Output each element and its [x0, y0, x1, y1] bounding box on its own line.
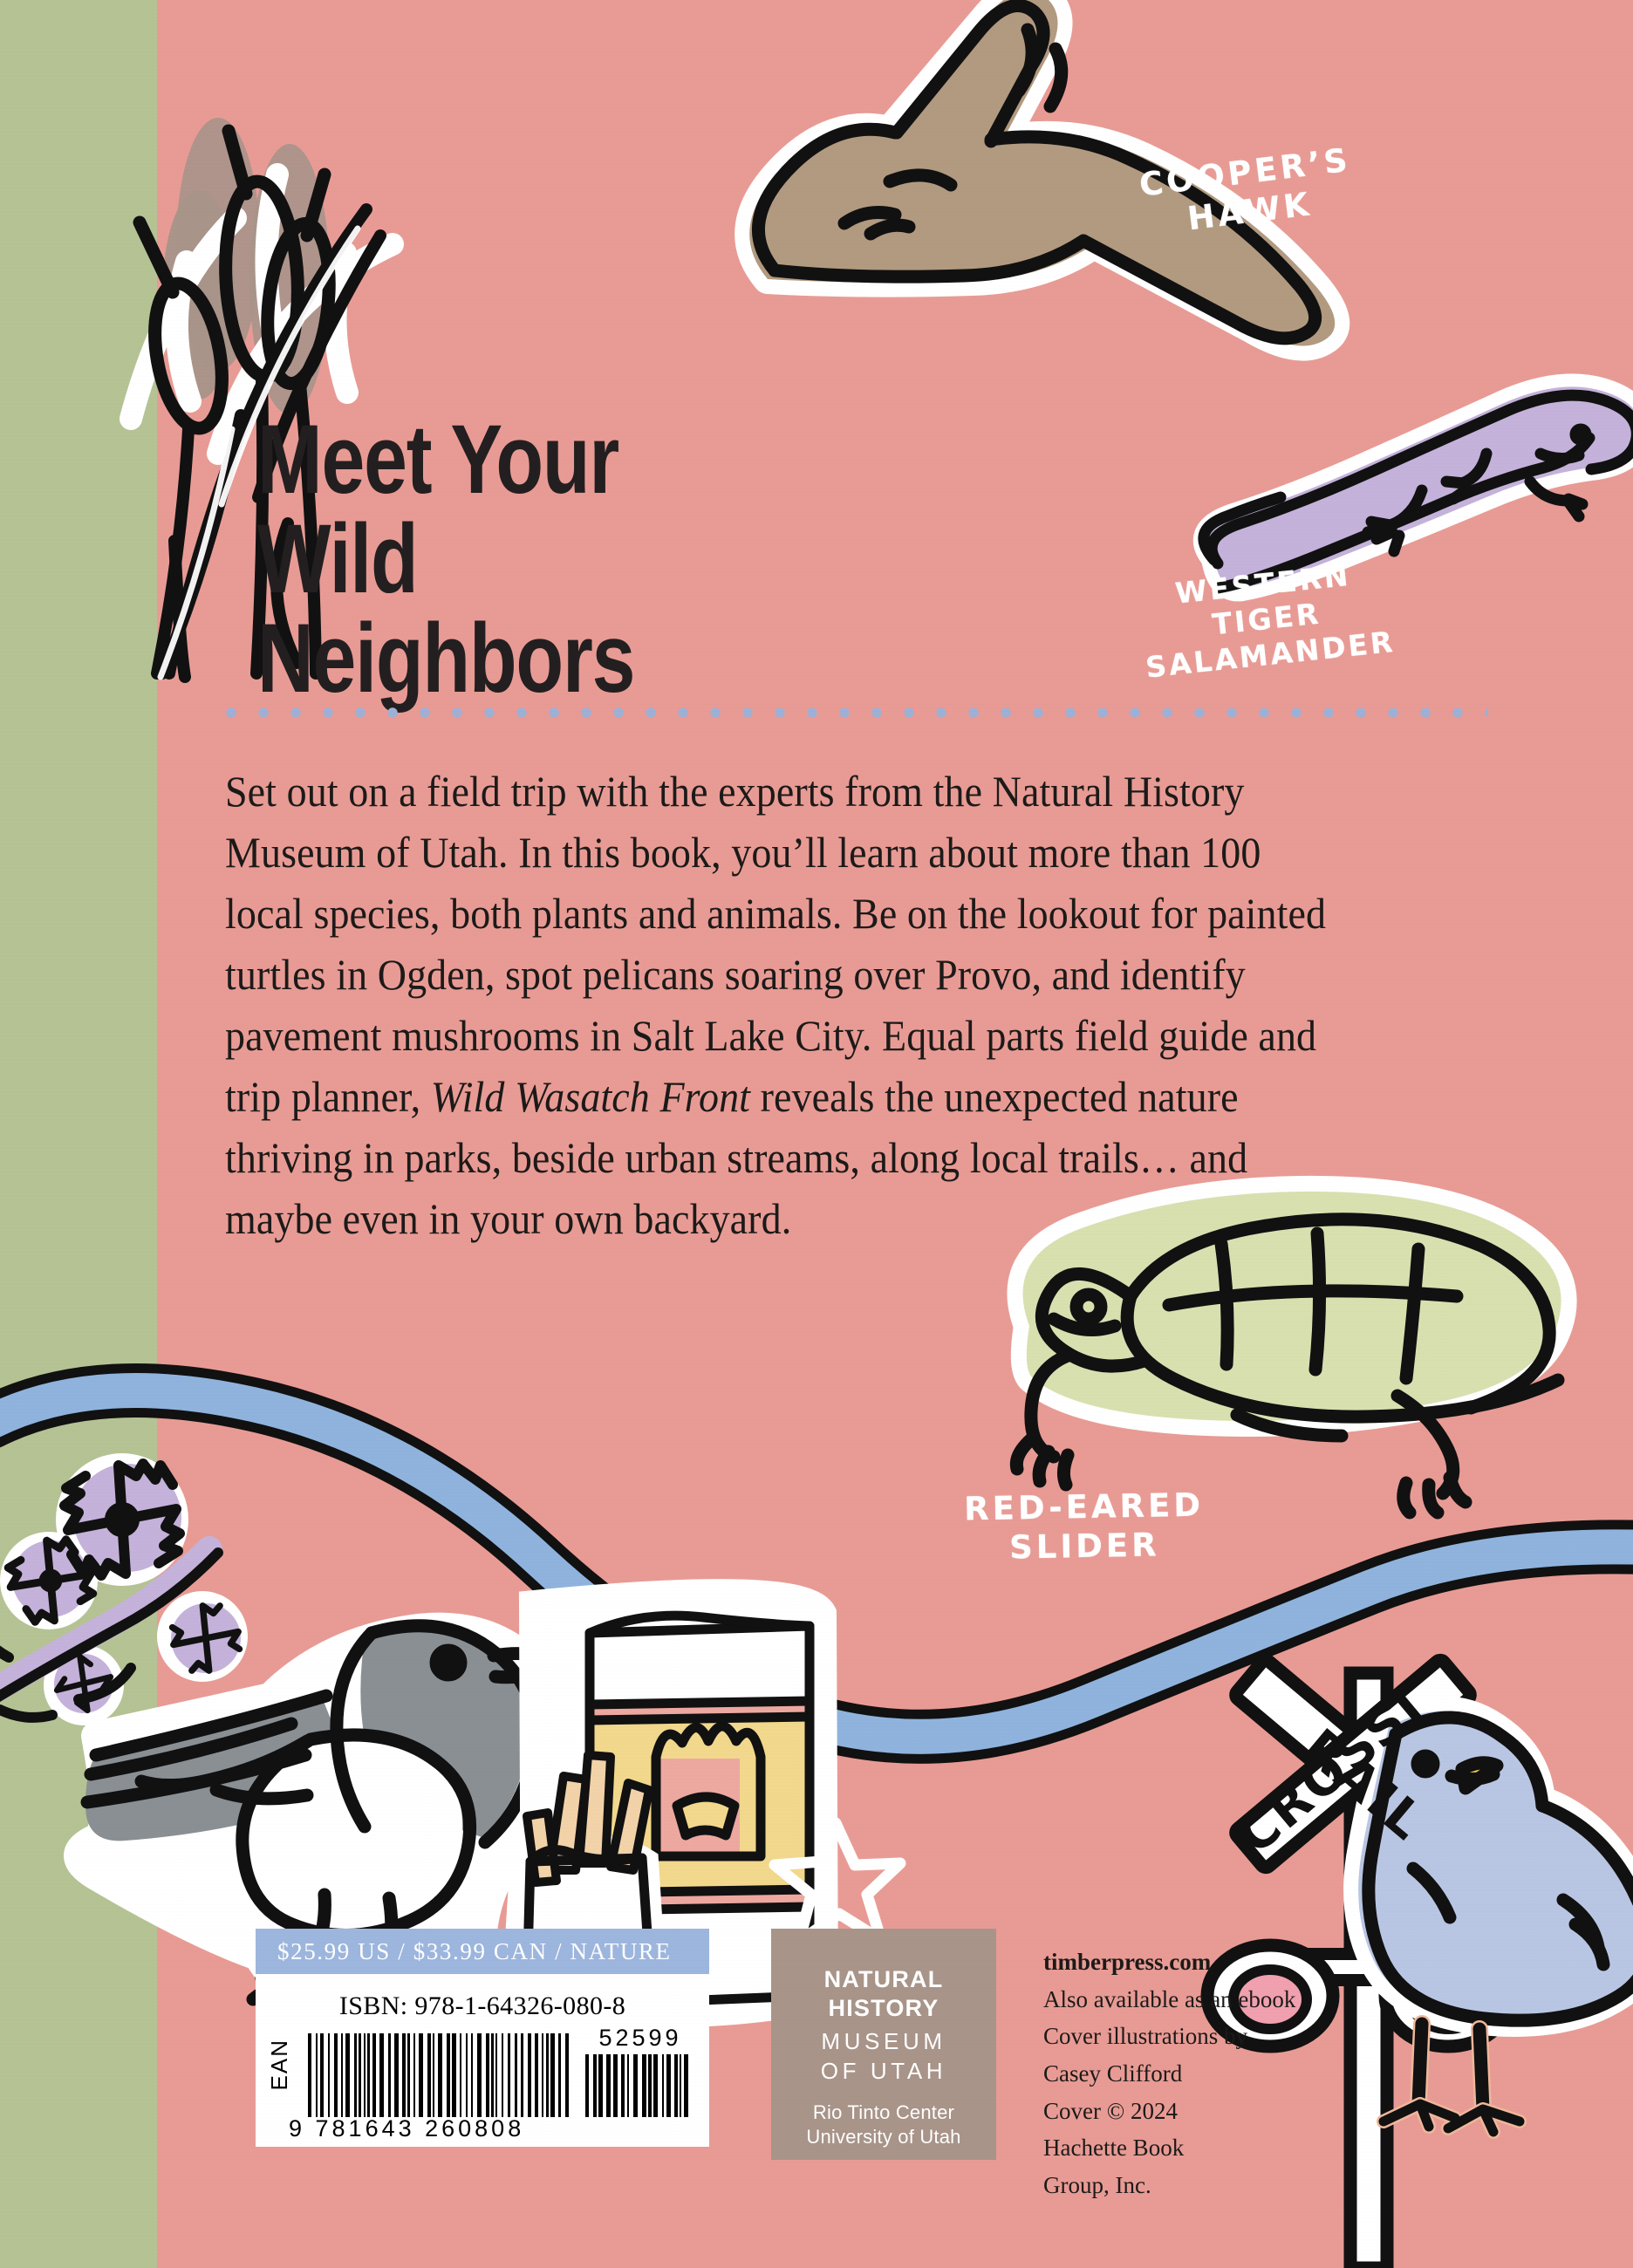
- logo-line-5: Rio Tinto Center: [813, 2101, 954, 2123]
- logo-line-4: OF UTAH: [821, 2058, 946, 2084]
- credit-publisher-2: Group, Inc.: [1043, 2167, 1331, 2204]
- ean13-bars: [308, 2033, 570, 2117]
- ean-label: EAN: [266, 2039, 293, 2090]
- logo-line-3: MUSEUM: [821, 2028, 946, 2054]
- chicory-flower-illustration: [0, 1453, 248, 1725]
- credit-ebook: Also available as an ebook: [1043, 1981, 1331, 2019]
- credit-illustrations-by: Cover illustrations by: [1043, 2018, 1331, 2055]
- price-banner: $25.99 US / $33.99 CAN / NATURE: [256, 1929, 709, 1974]
- barcode-block: ISBN: 978-1-64326-080-8 EAN 9 781643 260…: [256, 1974, 709, 2147]
- publisher-credits: timberpress.com Also available as an ebo…: [1043, 1944, 1331, 2204]
- book-title-italic: Wild Wasatch Front: [431, 1072, 750, 1121]
- page-title: Meet Your Wild Neighbors: [257, 410, 788, 709]
- credit-illustrator-name: Casey Clifford: [1043, 2055, 1331, 2093]
- price-text: $25.99 US / $33.99 CAN / NATURE: [277, 1938, 672, 1965]
- book-back-cover: RAIL CROSSI Meet Your Wild Neighbors Set…: [0, 0, 1633, 2268]
- blurb-part-1: Set out on a field trip with the experts…: [225, 767, 1326, 1121]
- dotted-divider: [225, 707, 1488, 719]
- logo-line-6: University of Utah: [806, 2126, 960, 2148]
- isbn-text: ISBN: 978-1-64326-080-8: [256, 1991, 709, 2021]
- logo-line-1: NATURAL: [824, 1966, 944, 1992]
- barcode-addon-digits: 52599: [585, 2025, 695, 2052]
- credit-copyright: Cover © 2024: [1043, 2093, 1331, 2130]
- title-line-1: Meet Your Wild: [257, 405, 618, 613]
- barcode-digits: 9 781643 260808: [289, 2115, 577, 2142]
- logo-line-2: HISTORY: [829, 1995, 939, 2021]
- museum-logo: NATURAL HISTORY MUSEUM OF UTAH Rio Tinto…: [771, 1929, 996, 2160]
- title-line-2: Neighbors: [257, 604, 634, 713]
- credit-publisher-1: Hachette Book: [1043, 2129, 1331, 2167]
- back-cover-blurb: Set out on a field trip with the experts…: [225, 761, 1349, 1249]
- label-red-eared-slider: RED-EARED SLIDER: [939, 1485, 1229, 1568]
- ean5-addon-bars: [585, 2054, 692, 2117]
- western-tiger-salamander-illustration: [1204, 386, 1633, 588]
- publisher-website[interactable]: timberpress.com: [1043, 1944, 1331, 1981]
